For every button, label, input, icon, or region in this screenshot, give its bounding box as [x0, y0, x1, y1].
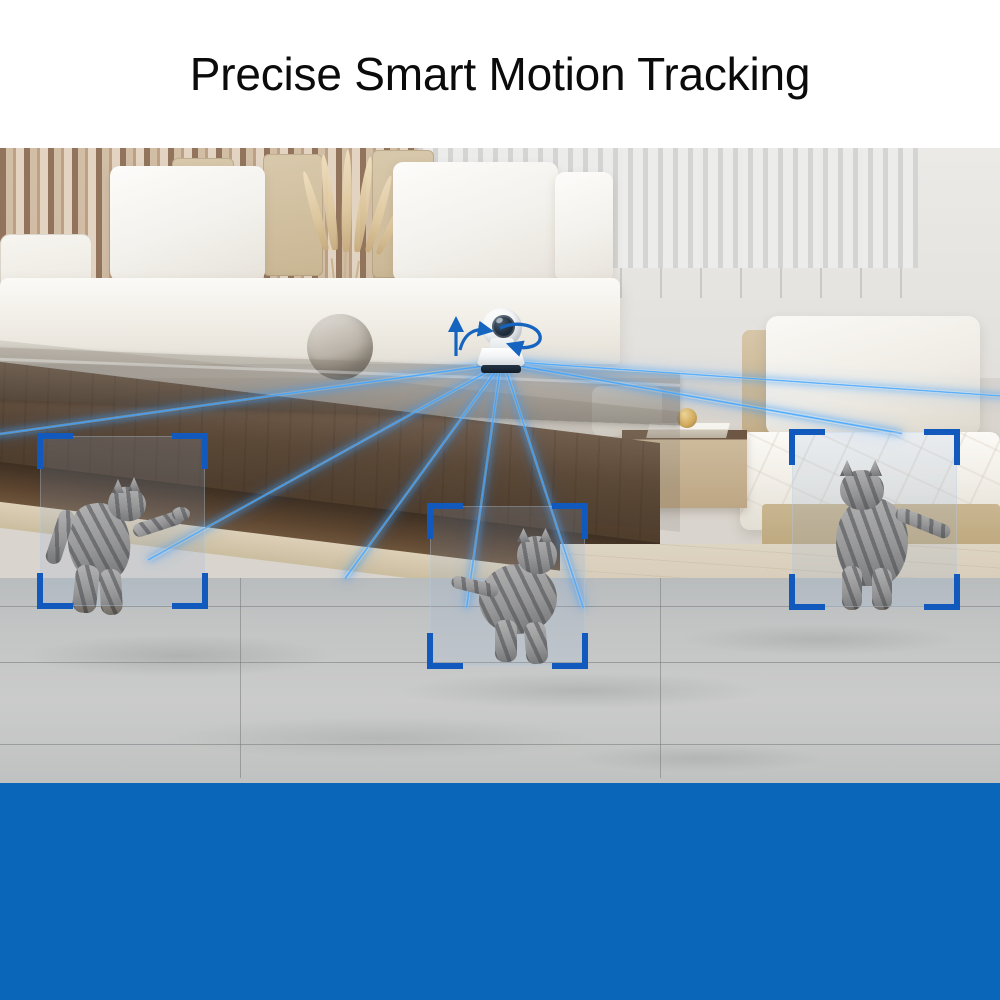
gold-sphere-ornament: [677, 408, 697, 428]
scene-photo: [0, 148, 1000, 783]
cat-right-ear-a: [840, 460, 854, 476]
cat-right: [812, 456, 952, 616]
chaise-back-cushion: [766, 316, 980, 436]
cat-center: [455, 528, 585, 668]
camera-lens-icon: [492, 315, 515, 338]
floor-seam-3: [0, 744, 1000, 745]
camera-foot: [481, 365, 521, 373]
cat-center-ear-b: [539, 528, 552, 542]
sofa-cushion-right: [393, 162, 558, 282]
cat-left-ear-b: [128, 477, 140, 491]
cat-left-hindleg: [72, 564, 101, 614]
sofa-cushion-left: [110, 166, 265, 281]
floor-seam-v2: [660, 578, 661, 778]
cat-right-leg-b: [872, 568, 892, 610]
cat-center-leg-a: [495, 620, 517, 662]
promo-page: Precise Smart Motion Tracking: [0, 0, 1000, 1000]
cat-left: [60, 473, 200, 613]
floor-seam-v1: [240, 578, 241, 778]
cat-left-paw: [172, 507, 190, 521]
cat-center-leg-b: [523, 621, 549, 665]
cat-right-head: [840, 470, 884, 510]
header-bar: Precise Smart Motion Tracking: [0, 0, 1000, 148]
sofa-cushion-far-right: [555, 172, 613, 282]
cat-left-hindleg-2: [99, 568, 123, 615]
bottom-banner: When motion activity is detected, tracks…: [0, 783, 1000, 1000]
tapo-camera[interactable]: [470, 308, 532, 374]
cat-center-ear-a: [517, 528, 530, 542]
cat-right-leg-a: [842, 566, 862, 610]
page-title: Precise Smart Motion Tracking: [190, 51, 811, 97]
cat-right-ear-b: [868, 460, 882, 476]
